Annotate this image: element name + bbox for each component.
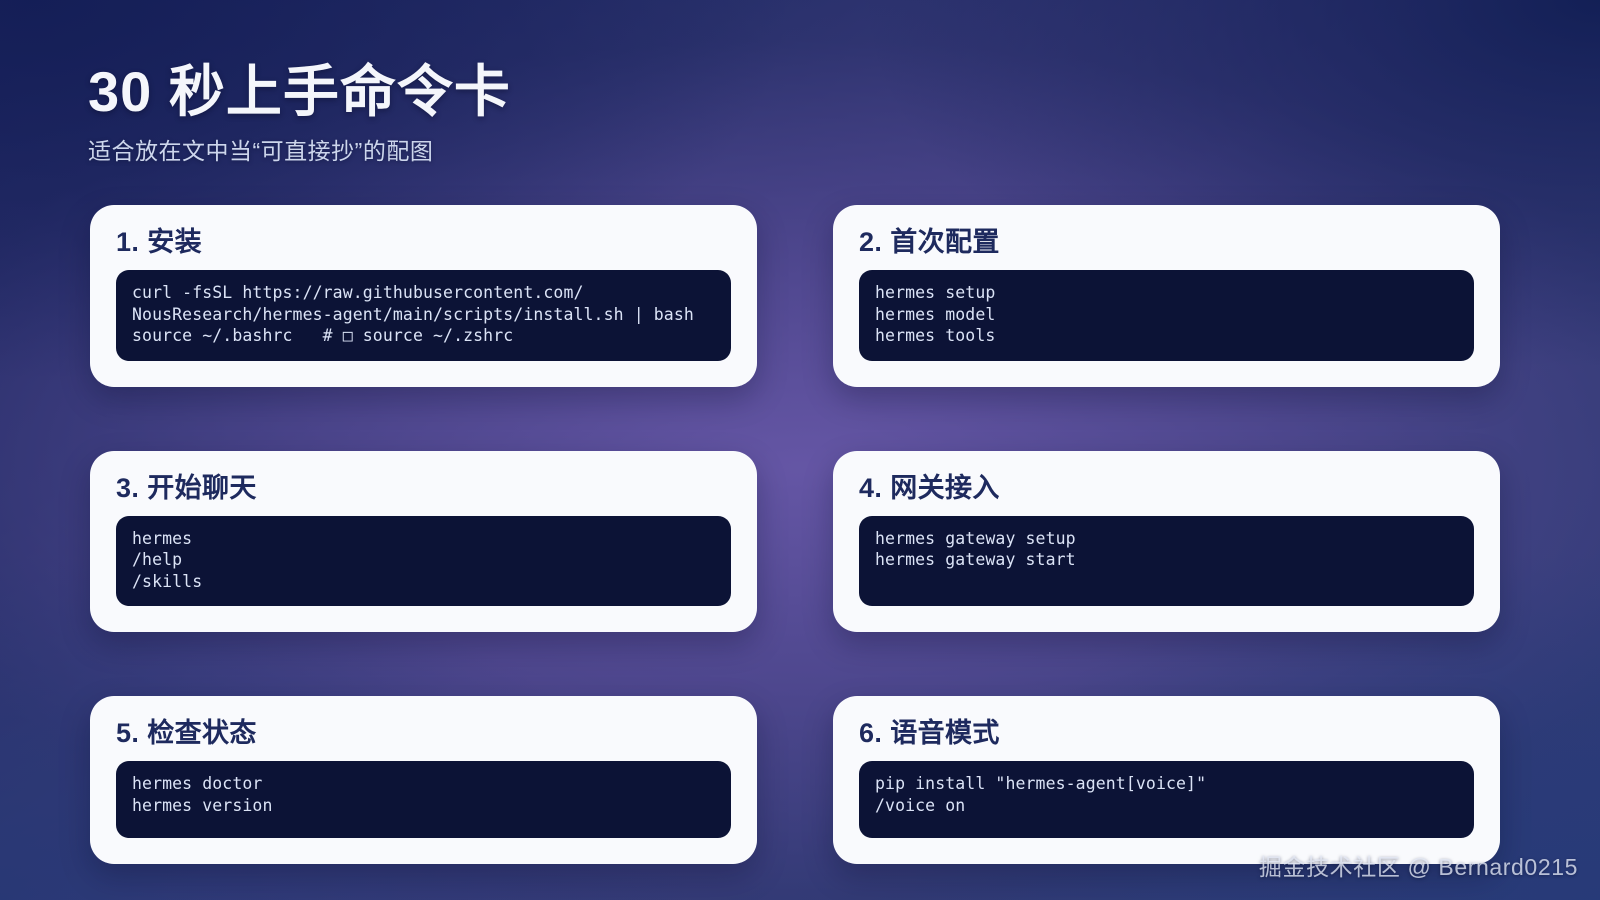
code-line: hermes gateway start — [875, 549, 1458, 571]
code-block[interactable]: hermes doctorhermes version — [116, 761, 731, 838]
step-card-title: 6. 语音模式 — [859, 718, 1474, 749]
step-card-title: 1. 安装 — [116, 227, 731, 258]
code-line: hermes — [132, 528, 715, 550]
step-card: 5. 检查状态hermes doctorhermes version — [90, 696, 757, 864]
step-card: 1. 安装curl -fsSL https://raw.githubuserco… — [90, 205, 757, 387]
code-line: hermes setup — [875, 282, 1458, 304]
step-card-title: 2. 首次配置 — [859, 227, 1474, 258]
code-line: curl -fsSL https://raw.githubusercontent… — [132, 282, 715, 304]
watermark: 掘金技术社区 @ Bernard0215 — [1259, 848, 1578, 882]
code-line: source ~/.bashrc # □ source ~/.zshrc — [132, 325, 715, 347]
code-block[interactable]: pip install "hermes-agent[voice]"/voice … — [859, 761, 1474, 838]
code-line: hermes model — [875, 304, 1458, 326]
code-block[interactable]: hermes setuphermes modelhermes tools — [859, 270, 1474, 361]
code-line: hermes doctor — [132, 773, 715, 795]
code-line: hermes gateway setup — [875, 528, 1458, 550]
code-line: /help — [132, 549, 715, 571]
step-card: 2. 首次配置hermes setuphermes modelhermes to… — [833, 205, 1500, 387]
code-line: NousResearch/hermes-agent/main/scripts/i… — [132, 304, 715, 326]
code-line: /voice on — [875, 795, 1458, 817]
step-card-title: 5. 检查状态 — [116, 718, 731, 749]
code-line: hermes tools — [875, 325, 1458, 347]
code-line: /skills — [132, 571, 715, 593]
step-card-title: 3. 开始聊天 — [116, 473, 731, 504]
code-line: pip install "hermes-agent[voice]" — [875, 773, 1458, 795]
code-line: hermes version — [132, 795, 715, 817]
page-title: 30 秒上手命令卡 — [88, 62, 888, 122]
code-block[interactable]: curl -fsSL https://raw.githubusercontent… — [116, 270, 731, 361]
step-card-grid: 1. 安装curl -fsSL https://raw.githubuserco… — [90, 205, 1500, 864]
step-card: 4. 网关接入hermes gateway setuphermes gatewa… — [833, 451, 1500, 633]
code-block[interactable]: hermes/help/skills — [116, 516, 731, 607]
step-card: 6. 语音模式pip install "hermes-agent[voice]"… — [833, 696, 1500, 864]
code-block[interactable]: hermes gateway setuphermes gateway start — [859, 516, 1474, 607]
header: 30 秒上手命令卡 适合放在文中当“可直接抄”的配图 — [88, 62, 888, 166]
page-subtitle: 适合放在文中当“可直接抄”的配图 — [88, 132, 888, 166]
step-card-title: 4. 网关接入 — [859, 473, 1474, 504]
step-card: 3. 开始聊天hermes/help/skills — [90, 451, 757, 633]
